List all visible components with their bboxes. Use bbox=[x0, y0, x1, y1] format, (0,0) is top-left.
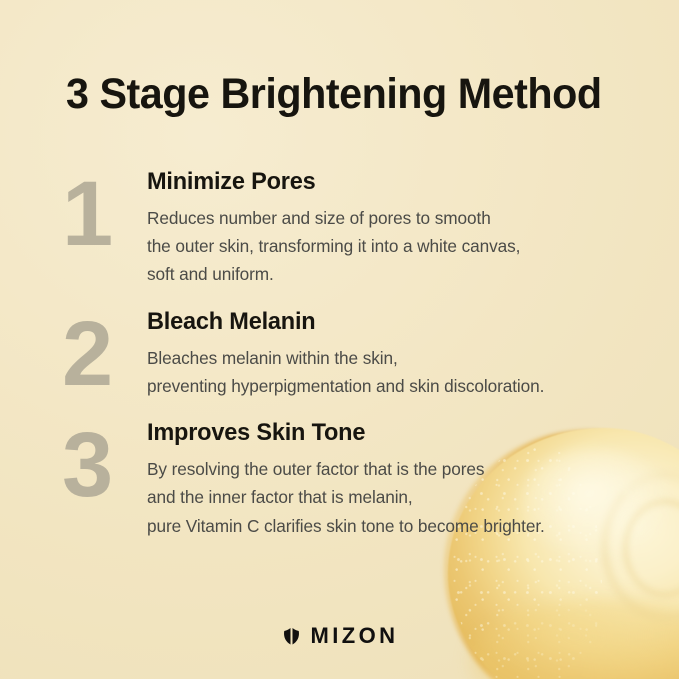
poster-content: 3 Stage Brightening Method 1 Minimize Po… bbox=[0, 0, 679, 679]
stage-body-line: By resolving the outer factor that is th… bbox=[147, 455, 671, 483]
stage-heading: Bleach Melanin bbox=[147, 308, 668, 337]
mizon-butterfly-icon bbox=[281, 627, 302, 646]
page-title: 3 Stage Brightening Method bbox=[66, 70, 602, 119]
stage-number: 3 bbox=[62, 423, 144, 508]
stage-number: 2 bbox=[62, 312, 144, 397]
stage-body: By resolving the outer factor that is th… bbox=[147, 455, 671, 540]
stage-body-line: the outer skin, transforming it into a w… bbox=[147, 232, 671, 260]
stage-body-line: Bleaches melanin within the skin, bbox=[147, 344, 671, 372]
stage-body-line: pure Vitamin C clarifies skin tone to be… bbox=[147, 512, 671, 540]
poster-canvas: 3 Stage Brightening Method 1 Minimize Po… bbox=[0, 0, 679, 679]
stage-item: 2 Bleach Melanin Bleaches melanin within… bbox=[0, 308, 679, 400]
stage-heading: Improves Skin Tone bbox=[147, 419, 668, 448]
stage-body-line: and the inner factor that is melanin, bbox=[147, 483, 671, 511]
stage-item: 3 Improves Skin Tone By resolving the ou… bbox=[0, 419, 679, 540]
stage-body: Bleaches melanin within the skin, preven… bbox=[147, 344, 671, 401]
stage-body-line: preventing hyperpigmentation and skin di… bbox=[147, 372, 671, 400]
brand-logo: MIZON bbox=[0, 623, 679, 649]
stage-body-line: soft and uniform. bbox=[147, 260, 671, 288]
stage-body: Reduces number and size of pores to smoo… bbox=[147, 204, 671, 289]
stage-body-line: Reduces number and size of pores to smoo… bbox=[147, 204, 671, 232]
brand-name: MIZON bbox=[311, 623, 399, 649]
stage-heading: Minimize Pores bbox=[147, 168, 668, 197]
stage-item: 1 Minimize Pores Reduces number and size… bbox=[0, 168, 679, 289]
stage-number: 1 bbox=[62, 172, 144, 257]
stage-list: 1 Minimize Pores Reduces number and size… bbox=[0, 168, 679, 559]
